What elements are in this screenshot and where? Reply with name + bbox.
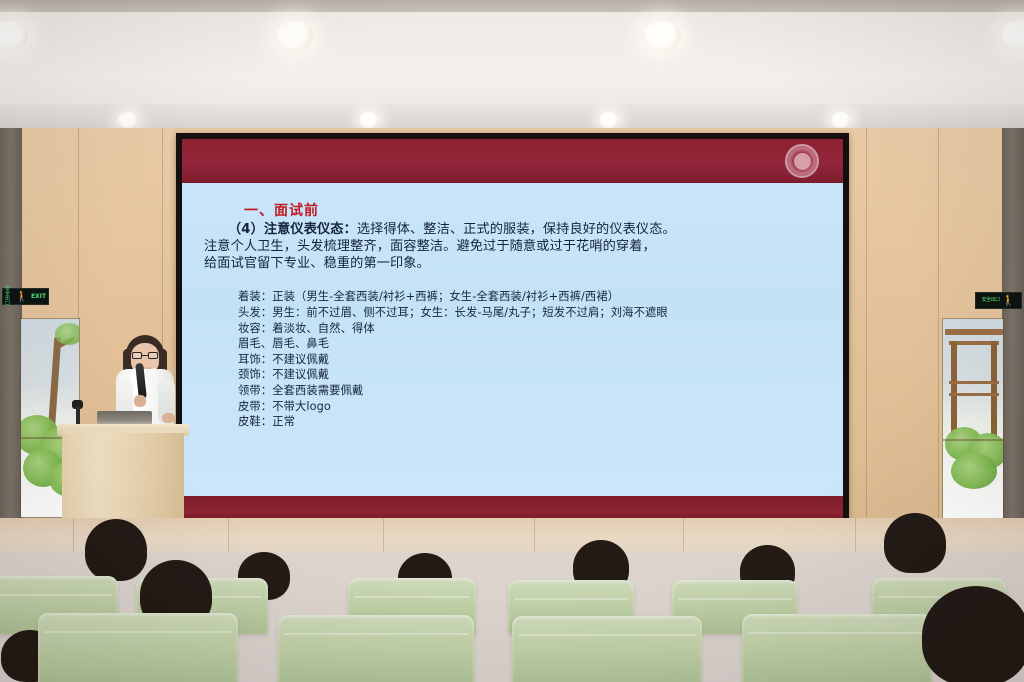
pergola-rail (949, 393, 999, 396)
pergola-post (951, 341, 957, 437)
checklist-item: 皮鞋：正常 (238, 414, 821, 430)
stage-seam (228, 518, 229, 552)
stage-seam (855, 518, 856, 552)
slide-paragraph-lead: （4）注意仪表仪态： (228, 222, 357, 237)
running-man-icon: 🚶 (1002, 295, 1016, 306)
slide-checklist: 着装：正装（男生-全套西装/衬衫+西裤；女生-全套西装/衬衫+西裤/西裙） 头发… (238, 289, 821, 429)
glasses-lens (132, 352, 142, 359)
foliage (951, 453, 997, 489)
lecture-hall-scene: 安全出口 🚶 EXIT 安全出口 🚶 一、面试前 （4）注意仪表仪态：选择得体、… (0, 0, 1024, 682)
exit-sign-label-cn: 安全出口 (982, 298, 1000, 303)
glasses-icon (132, 352, 158, 359)
university-seal-icon (785, 144, 819, 178)
audience-seat (278, 615, 474, 682)
checklist-item: 领带：全套西装需要佩戴 (238, 383, 821, 399)
stage-seam (534, 518, 535, 552)
window-right (942, 318, 1004, 520)
pergola-beam (945, 329, 1003, 335)
ceiling-downlight (643, 21, 681, 51)
ceiling-downlight (275, 21, 313, 51)
wall-pillar-left (0, 128, 22, 528)
audience-head (85, 519, 147, 581)
ceiling-downlight (118, 112, 138, 128)
slide-paragraph-text: 给面试官留下专业、稳重的第一印象。 (204, 256, 430, 271)
exit-sign-label-cn: 安全出口 (5, 287, 13, 307)
slide-band-top (182, 139, 843, 183)
slide-paragraph: （4）注意仪表仪态：选择得体、整洁、正式的服装，保持良好的仪表仪态。 (204, 221, 821, 238)
stage-seam (383, 518, 384, 552)
running-man-icon: 🚶 (15, 291, 29, 302)
ceiling-downlight (359, 112, 379, 128)
stage-seam (683, 518, 684, 552)
checklist-item: 眉毛、唇毛、鼻毛 (238, 336, 821, 352)
presenter-hand (134, 395, 146, 407)
exit-sign-label-en: EXIT (31, 294, 46, 300)
pergola-post (991, 341, 997, 437)
audience-seat (742, 614, 932, 682)
glasses-lens (148, 352, 158, 359)
checklist-item: 耳饰：不建议佩戴 (238, 352, 821, 368)
slide-paragraph-text: 注意个人卫生，头发梳理整齐，面容整洁。避免过于随意或过于花哨的穿着， (204, 239, 656, 254)
exit-sign-left: 安全出口 🚶 EXIT (2, 288, 49, 305)
pergola-rail (949, 381, 999, 384)
checklist-item: 妆容：着淡妆、自然、得体 (238, 321, 821, 337)
wall-seam (938, 128, 939, 528)
slide-paragraph: 注意个人卫生，头发梳理整齐，面容整洁。避免过于随意或过于花哨的穿着， (204, 238, 821, 255)
audience-seat (512, 616, 702, 682)
screen-surface: 一、面试前 （4）注意仪表仪态：选择得体、整洁、正式的服装，保持良好的仪表仪态。… (182, 139, 843, 522)
checklist-item: 皮带：不带大logo (238, 399, 821, 415)
audience-head (884, 513, 946, 573)
exit-sign-right: 安全出口 🚶 (975, 292, 1022, 309)
seal-inner (794, 153, 811, 170)
checklist-item: 颈饰：不建议佩戴 (238, 367, 821, 383)
projection-screen[interactable]: 一、面试前 （4）注意仪表仪态：选择得体、整洁、正式的服装，保持良好的仪表仪态。… (176, 133, 849, 528)
foliage (55, 323, 80, 345)
laptop-icon (97, 411, 152, 425)
slide-paragraph: 给面试官留下专业、稳重的第一印象。 (204, 255, 821, 272)
slide-content: 一、面试前 （4）注意仪表仪态：选择得体、整洁、正式的服装，保持良好的仪表仪态。… (182, 183, 843, 496)
wall-pillar-right (1002, 128, 1024, 528)
window-mullion (943, 439, 1004, 441)
ceiling-downlight (831, 112, 851, 128)
audience-seat (38, 613, 238, 682)
ceiling-downlight (599, 112, 619, 128)
checklist-item: 着装：正装（男生-全套西装/衬衫+西裤；女生-全套西装/衬衫+西裤/西裙） (238, 289, 821, 305)
slide-title: 一、面试前 (244, 200, 821, 220)
slide-paragraph-text: 选择得体、整洁、正式的服装，保持良好的仪表仪态。 (357, 222, 676, 237)
checklist-item: 头发：男生：前不过眉、侧不过耳；女生：长发-马尾/丸子；短发不过肩；刘海不遮眼 (238, 305, 821, 321)
presenter-hand (162, 413, 175, 423)
stage-seam (73, 518, 74, 552)
wall-seam (866, 128, 867, 528)
audience-head-foreground (922, 586, 1024, 682)
